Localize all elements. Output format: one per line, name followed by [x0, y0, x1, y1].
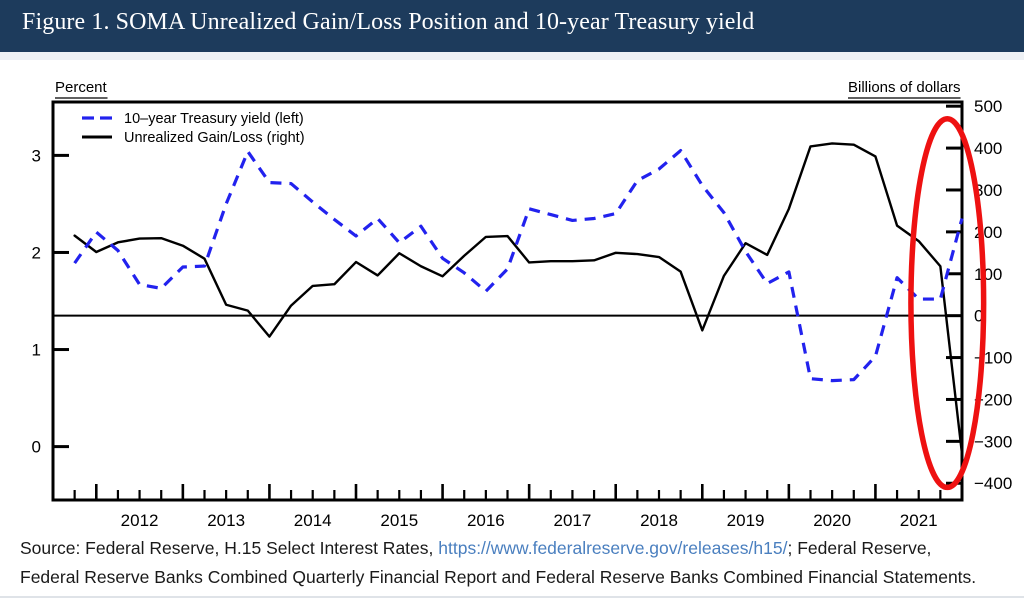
- axis-label-right: Billions of dollars: [848, 79, 961, 96]
- axis-label-left-group: Percent: [55, 79, 108, 98]
- x-axis-tick-label: 2020: [813, 511, 851, 530]
- chart-legend: 10–year Treasury yield (left) Unrealized…: [82, 111, 305, 146]
- x-axis-tick-label: 2018: [640, 511, 678, 530]
- x-axis-tick-label: 2019: [727, 511, 765, 530]
- x-axis-tick-label: 2016: [467, 511, 505, 530]
- figure-page: Figure 1. SOMA Unrealized Gain/Loss Posi…: [0, 0, 1024, 598]
- red-ellipse-highlight: [911, 119, 984, 488]
- axis-label-left: Percent: [55, 79, 108, 96]
- source-line-1: Source: Federal Reserve, H.15 Select Int…: [20, 538, 931, 559]
- right-axis-tick-label: 500: [974, 97, 1002, 116]
- x-axis-tick-label: 2021: [900, 511, 938, 530]
- chart-figure: Percent Billions of dollars 3210 5004003…: [0, 60, 1024, 530]
- axis-label-right-group: Billions of dollars: [848, 79, 961, 98]
- source-footer: Source: Federal Reserve, H.15 Select Int…: [0, 530, 1024, 598]
- left-axis-tick-label: 0: [32, 438, 41, 457]
- legend-label-treasury-yield: 10–year Treasury yield (left): [124, 111, 304, 127]
- left-axis-tick-label: 2: [32, 243, 41, 262]
- right-axis-tick-label: −400: [974, 474, 1012, 493]
- legend-label-unrealized-gain-loss: Unrealized Gain/Loss (right): [124, 130, 305, 146]
- page-title: Figure 1. SOMA Unrealized Gain/Loss Posi…: [22, 9, 754, 36]
- x-axis-tick-label: 2017: [554, 511, 592, 530]
- x-axis: 2012201320142015201620172018201920202021: [53, 484, 962, 530]
- data-series-layer: [75, 143, 962, 453]
- x-axis-tick-label: 2013: [207, 511, 245, 530]
- title-underband: [0, 52, 1024, 60]
- right-axis: 5004003002001000−100−200−300−400: [946, 97, 1012, 493]
- left-axis-tick-label: 3: [32, 146, 41, 165]
- left-axis: 3210: [32, 146, 69, 456]
- right-axis-tick-label: 100: [974, 265, 1002, 284]
- source-text-b: ; Federal Reserve,: [787, 538, 931, 558]
- plot-frame: [53, 102, 962, 500]
- source-text-a: Source: Federal Reserve, H.15 Select Int…: [20, 538, 438, 558]
- right-axis-tick-label: −300: [974, 432, 1012, 451]
- chart-canvas: Percent Billions of dollars 3210 5004003…: [0, 60, 1024, 530]
- x-axis-tick-label: 2015: [380, 511, 418, 530]
- left-axis-tick-label: 1: [32, 341, 41, 360]
- series-unrealized-gain-loss: [75, 143, 962, 453]
- title-bar: Figure 1. SOMA Unrealized Gain/Loss Posi…: [0, 0, 1024, 52]
- source-link[interactable]: https://www.federalreserve.gov/releases/…: [438, 538, 787, 558]
- source-line-2: Federal Reserve Banks Combined Quarterly…: [20, 567, 976, 588]
- x-axis-tick-label: 2014: [294, 511, 332, 530]
- x-axis-tick-label: 2012: [121, 511, 159, 530]
- right-axis-tick-label: 400: [974, 139, 1002, 158]
